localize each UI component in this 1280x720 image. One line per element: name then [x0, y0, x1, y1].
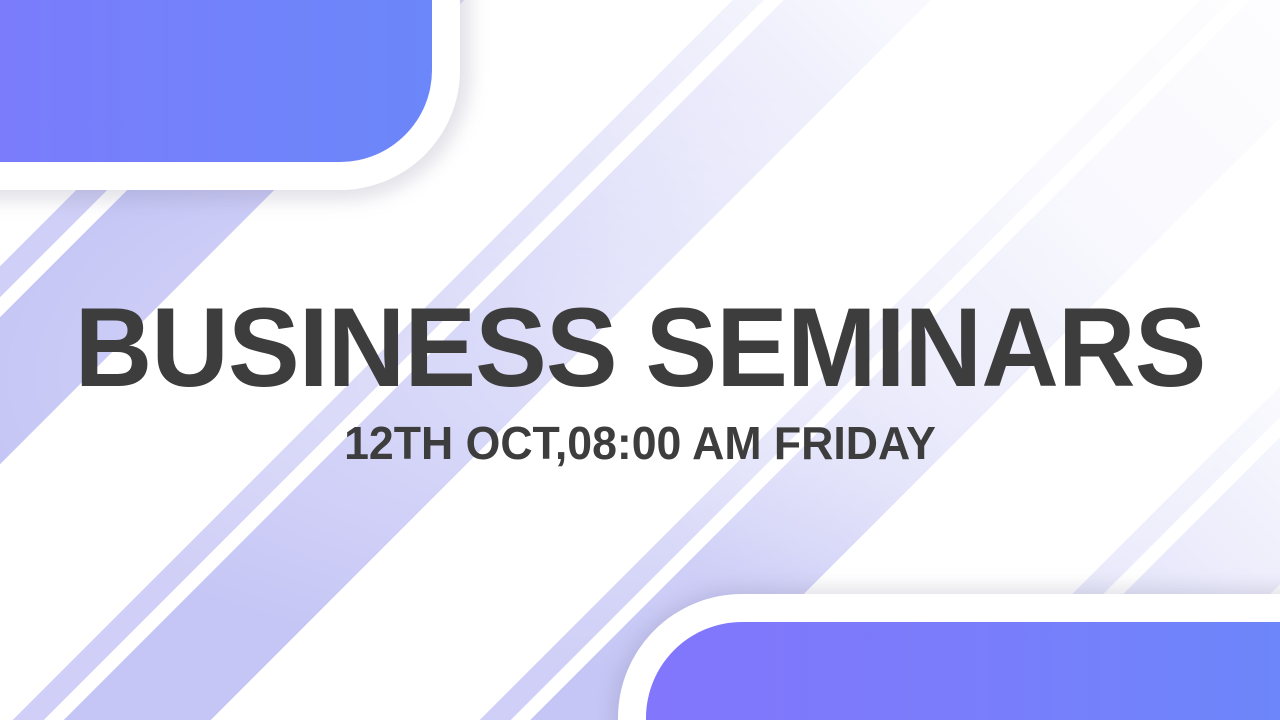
- poster-text-block: BUSINESS SEMINARS 12TH OCT,08:00 AM FRID…: [0, 292, 1280, 466]
- event-datetime: 12TH OCT,08:00 AM FRIDAY: [19, 420, 1261, 466]
- poster-canvas: BUSINESS SEMINARS 12TH OCT,08:00 AM FRID…: [0, 0, 1280, 720]
- event-title: BUSINESS SEMINARS: [26, 292, 1255, 404]
- top-left-ribbon-gradient-fill: [0, 0, 432, 162]
- bottom-right-ribbon-gradient-fill: [646, 622, 1280, 720]
